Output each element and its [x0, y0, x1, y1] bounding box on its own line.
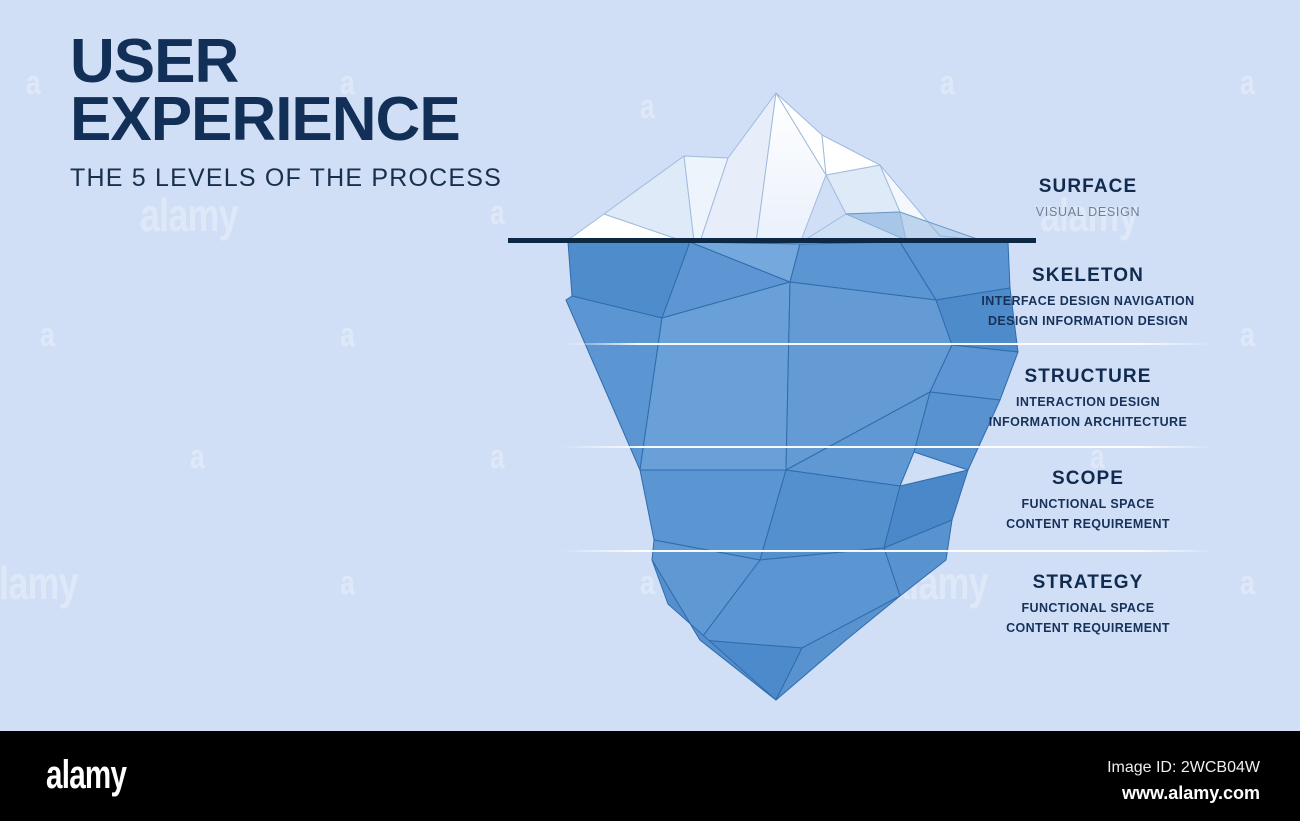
infographic-root: a a a a a alamy alamy a a a a alamy a a …	[0, 0, 1300, 821]
level-title: SURFACE	[938, 176, 1238, 198]
artboard: a a a a a alamy alamy a a a a alamy a a …	[0, 0, 1300, 728]
level-subtitle-line-2: INFORMATION ARCHITECTURE	[938, 412, 1238, 432]
alamy-url[interactable]: www.alamy.com	[1122, 783, 1260, 804]
level-divider	[560, 343, 1215, 345]
level-title: STRATEGY	[938, 572, 1238, 594]
stock-footer-bar: alamy Image ID: 2WCB04W www.alamy.com	[0, 731, 1300, 821]
level-label-surface[interactable]: SURFACE VISUAL DESIGN	[938, 176, 1238, 222]
level-subtitle-line-1: INTERACTION DESIGN	[938, 392, 1238, 412]
level-title: STRUCTURE	[938, 366, 1238, 388]
level-label-strategy[interactable]: STRATEGY FUNCTIONAL SPACE CONTENT REQUIR…	[938, 572, 1238, 638]
level-title: SKELETON	[938, 265, 1238, 287]
level-subtitle-line-1: INTERFACE DESIGN NAVIGATION	[938, 291, 1238, 311]
level-label-skeleton[interactable]: SKELETON INTERFACE DESIGN NAVIGATION DES…	[938, 265, 1238, 331]
level-label-structure[interactable]: STRUCTURE INTERACTION DESIGN INFORMATION…	[938, 366, 1238, 432]
level-divider	[560, 550, 1215, 552]
level-subtitle-line-1: VISUAL DESIGN	[938, 202, 1238, 222]
level-subtitle-line-1: FUNCTIONAL SPACE	[938, 494, 1238, 514]
level-subtitle-line-2: CONTENT REQUIREMENT	[938, 514, 1238, 534]
level-title: SCOPE	[938, 468, 1238, 490]
waterline	[508, 238, 1036, 243]
level-divider	[560, 446, 1215, 448]
level-subtitle-line-1: FUNCTIONAL SPACE	[938, 598, 1238, 618]
level-label-scope[interactable]: SCOPE FUNCTIONAL SPACE CONTENT REQUIREME…	[938, 468, 1238, 534]
alamy-logo: alamy	[46, 755, 126, 795]
image-id-text: Image ID: 2WCB04W	[1107, 759, 1260, 777]
level-subtitle-line-2: DESIGN INFORMATION DESIGN	[938, 311, 1238, 331]
level-subtitle-line-2: CONTENT REQUIREMENT	[938, 618, 1238, 638]
